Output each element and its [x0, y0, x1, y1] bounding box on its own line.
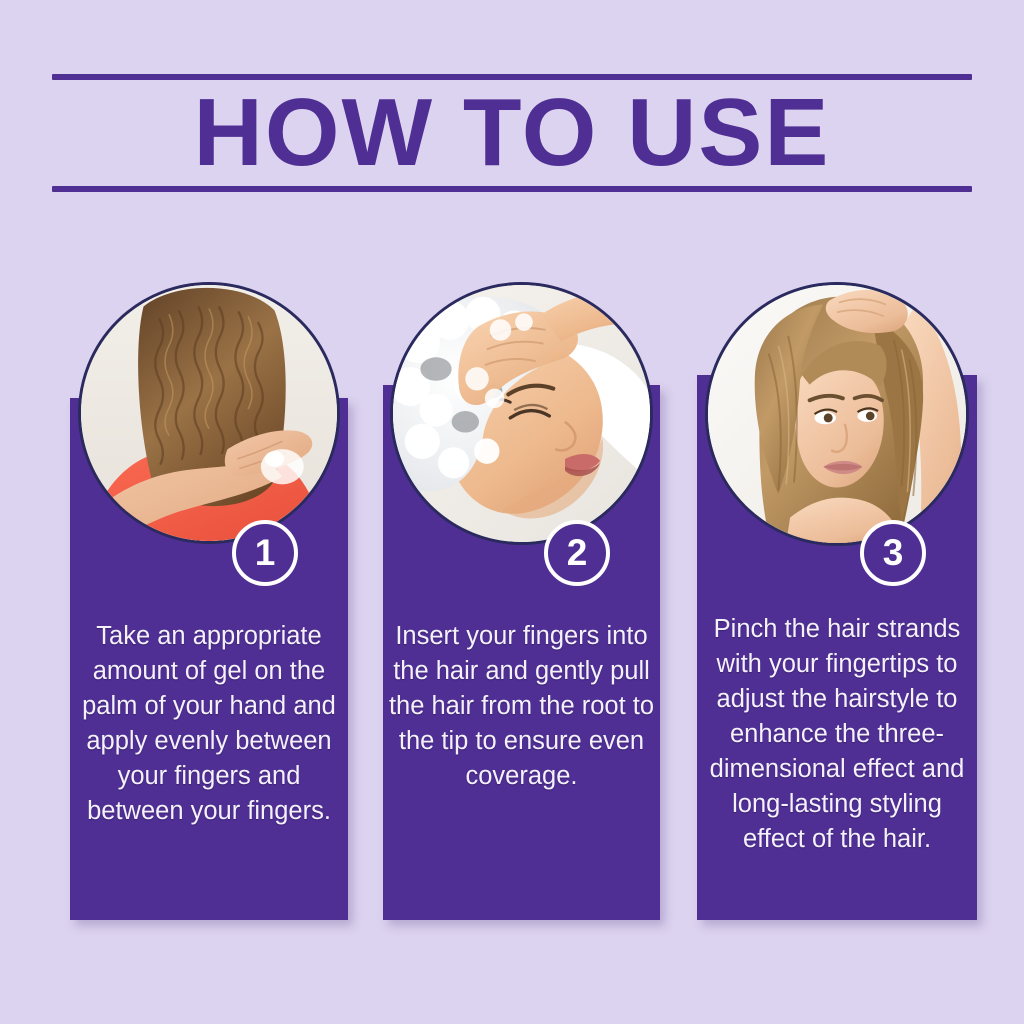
- step-2-photo-image: [393, 285, 650, 542]
- step-1-photo: [78, 282, 340, 544]
- step-3-number-badge: 3: [860, 520, 926, 586]
- step-2-number-badge: 2: [544, 520, 610, 586]
- header-rule-bottom: [52, 186, 972, 192]
- step-3-photo-image: [708, 285, 966, 543]
- page-title: HOW TO USE: [52, 80, 972, 186]
- step-1-number-badge: 1: [232, 520, 298, 586]
- step-card-1: 1 Take an appropriate amount of gel on t…: [70, 282, 348, 920]
- step-3-caption: Pinch the hair strands with your fingert…: [701, 612, 973, 857]
- how-to-use-infographic: HOW TO USE: [0, 0, 1024, 1024]
- step-card-2: 2 Insert your fingers into the hair and …: [383, 282, 660, 920]
- step-1-photo-image: [81, 285, 337, 541]
- step-3-photo: [705, 282, 969, 546]
- step-2-caption: Insert your fingers into the hair and ge…: [387, 619, 656, 794]
- step-1-caption: Take an appropriate amount of gel on the…: [74, 619, 344, 829]
- step-2-photo: [390, 282, 653, 545]
- step-card-3: 3 Pinch the hair strands with your finge…: [697, 282, 977, 920]
- header: HOW TO USE: [52, 74, 972, 192]
